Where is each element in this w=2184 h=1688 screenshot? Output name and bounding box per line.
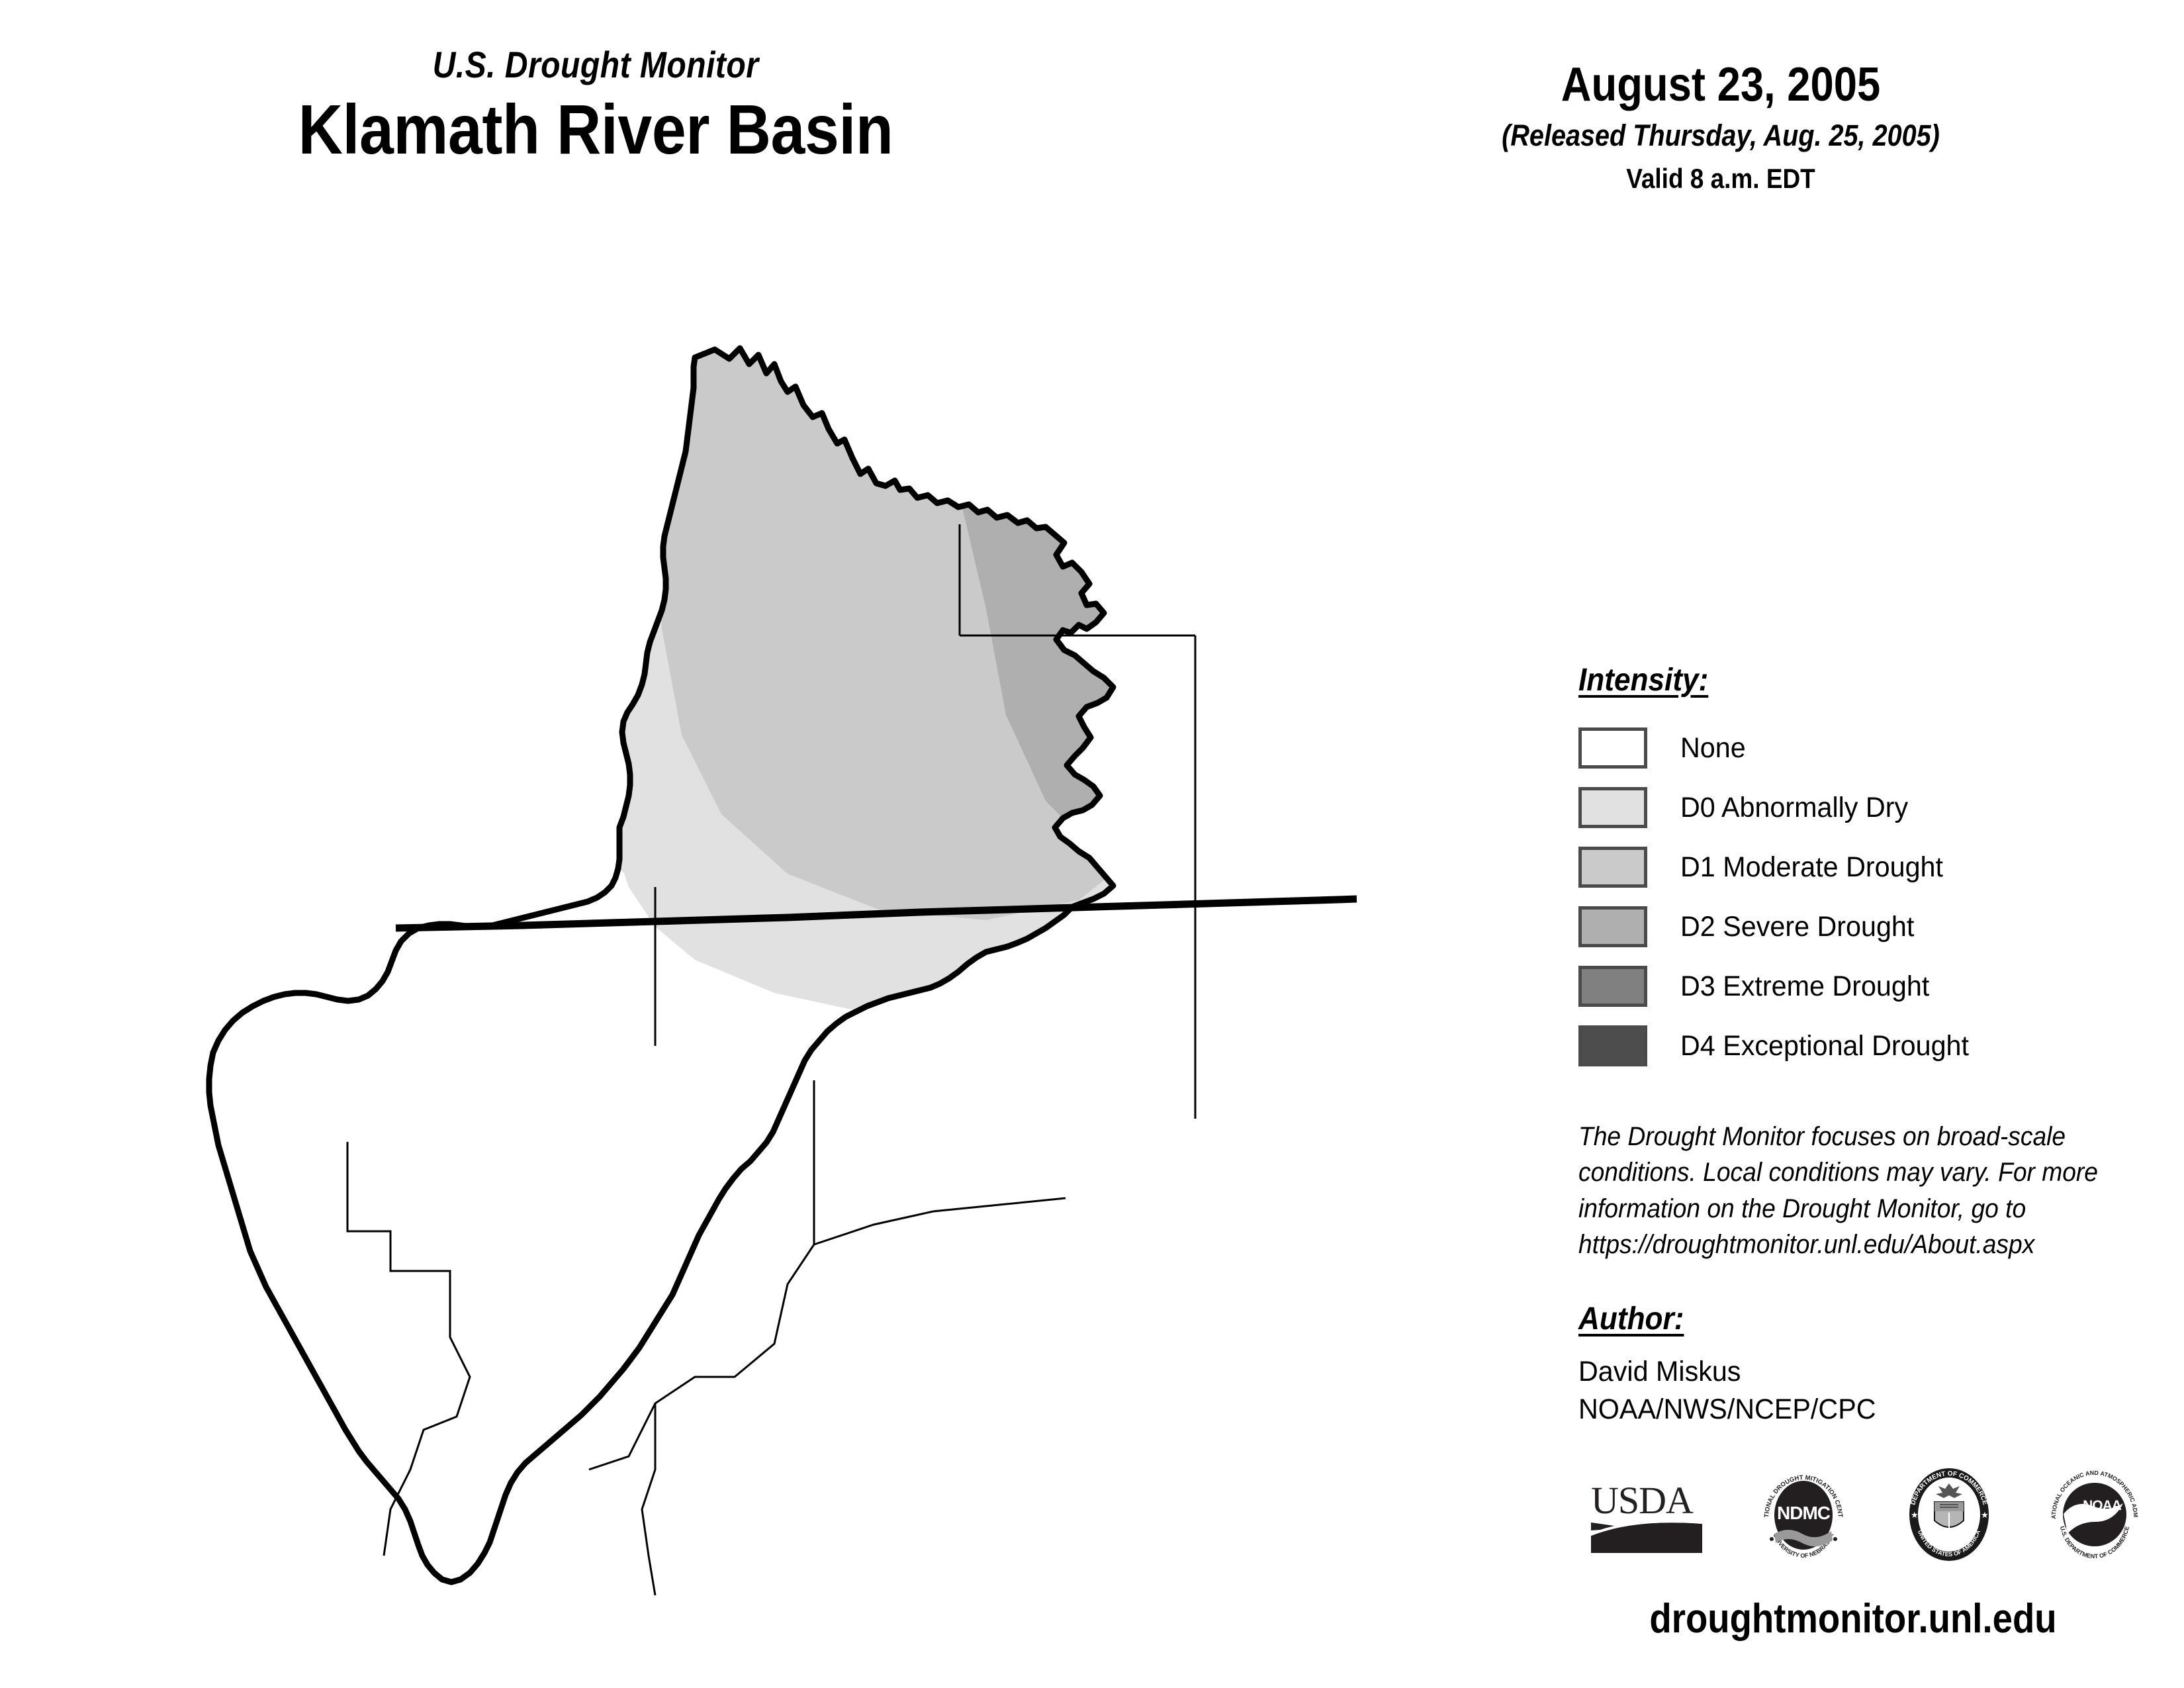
title-block: U.S. Drought Monitor Klamath River Basin <box>0 46 1191 173</box>
legend-swatch-d1 <box>1578 847 1647 888</box>
legend-item-none[interactable]: None <box>1578 718 2174 778</box>
author-title: Author: <box>1578 1301 1684 1337</box>
legend-swatch-d2 <box>1578 906 1647 947</box>
ndmc-logo[interactable]: NATIONAL DROUGHT MITIGATION CENTER UNIVE… <box>1754 1465 1853 1568</box>
legend-label-d1: D1 Moderate Drought <box>1680 853 1943 882</box>
legend: Intensity: None D0 Abnormally Dry D1 Mod… <box>1578 662 2174 1076</box>
legend-label-none: None <box>1680 734 1746 763</box>
legend-label-d3: D3 Extreme Drought <box>1680 972 1929 1001</box>
svg-text:★: ★ <box>1911 1510 1919 1520</box>
svg-text:NOAA: NOAA <box>2083 1498 2122 1513</box>
doc-seal-logo[interactable]: DEPARTMENT OF COMMERCE UNITED STATES OF … <box>1903 1465 1995 1568</box>
legend-label-d4: D4 Exceptional Drought <box>1680 1032 1969 1060</box>
legend-label-d2: D2 Severe Drought <box>1680 913 1914 941</box>
legend-swatch-d0 <box>1578 787 1647 828</box>
legend-swatch-d3 <box>1578 966 1647 1007</box>
map-fill-layer <box>192 344 1423 1622</box>
disclaimer-text: The Drought Monitor focuses on broad-sca… <box>1578 1119 2145 1263</box>
program-name: U.S. Drought Monitor <box>83 46 1108 83</box>
legend-label-d0: D0 Abnormally Dry <box>1680 794 1908 822</box>
date-block: August 23, 2005 (Released Thursday, Aug.… <box>1357 60 2085 195</box>
author-affiliation: NOAA/NWS/NCEP/CPC <box>1578 1391 2150 1429</box>
valid-date: August 23, 2005 <box>1400 60 2041 110</box>
legend-item-d2[interactable]: D2 Severe Drought <box>1578 897 2174 957</box>
partner-logos: USDA NATIONAL DROUGHT MITIGATION CENTER … <box>1588 1456 2144 1575</box>
legend-item-d4[interactable]: D4 Exceptional Drought <box>1578 1016 2174 1076</box>
legend-item-d1[interactable]: D1 Moderate Drought <box>1578 837 2174 897</box>
valid-time: Valid 8 a.m. EDT <box>1400 162 2041 195</box>
release-date: (Released Thursday, Aug. 25, 2005) <box>1400 118 2041 153</box>
drought-map <box>192 344 1423 1622</box>
noaa-logo[interactable]: NATIONAL OCEANIC AND ATMOSPHERIC ADMIN U… <box>2045 1465 2144 1568</box>
footer-url[interactable]: droughtmonitor.unl.edu <box>1608 1595 2097 1642</box>
author-block: Author: David Miskus NOAA/NWS/NCEP/CPC <box>1578 1301 2174 1429</box>
legend-item-d3[interactable]: D3 Extreme Drought <box>1578 957 2174 1016</box>
svg-text:NDMC: NDMC <box>1777 1503 1831 1523</box>
legend-swatch-d4 <box>1578 1025 1647 1066</box>
svg-text:USDA: USDA <box>1591 1479 1694 1522</box>
usda-logo[interactable]: USDA <box>1588 1475 1704 1558</box>
legend-swatch-none <box>1578 727 1647 769</box>
author-name: David Miskus <box>1578 1353 2150 1391</box>
legend-item-d0[interactable]: D0 Abnormally Dry <box>1578 778 2174 837</box>
legend-title: Intensity: <box>1578 662 1708 698</box>
svg-text:★: ★ <box>1981 1510 1989 1520</box>
page-title: Klamath River Basin <box>71 87 1120 173</box>
